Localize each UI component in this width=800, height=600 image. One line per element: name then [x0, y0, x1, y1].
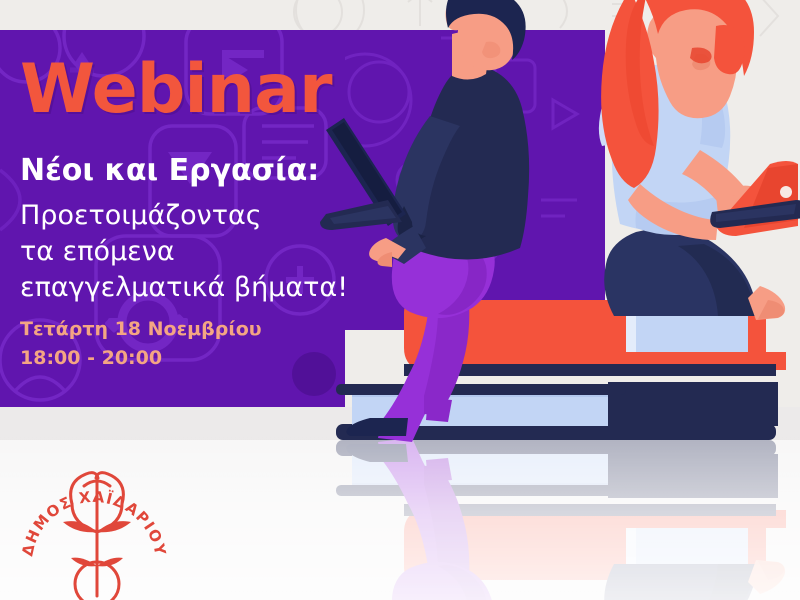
event-datetime: Τετάρτη 18 Νοεμβρίου 18:00 - 20:00 — [20, 315, 262, 374]
page-title: Webinar — [20, 56, 332, 124]
description-line-1: Προετοιμάζοντας — [20, 198, 348, 234]
description-line-3: επαγγελματικά βήματα! — [20, 270, 348, 306]
event-time: 18:00 - 20:00 — [20, 344, 262, 373]
description: Προετοιμάζοντας τα επόμενα επαγγελματικά… — [20, 198, 348, 306]
purple-panel-extension — [345, 30, 605, 330]
event-date: Τετάρτη 18 Νοεμβρίου — [20, 315, 262, 344]
municipality-logo: ΔΗΜΟΣ ΧΑΪΔΑΡΙΟΥ — [22, 468, 172, 600]
description-line-2: τα επόμενα — [20, 234, 348, 270]
webinar-poster: Webinar Νέοι και Εργασία: Προετοιμάζοντα… — [0, 0, 800, 600]
subtitle: Νέοι και Εργασία: — [20, 155, 319, 187]
